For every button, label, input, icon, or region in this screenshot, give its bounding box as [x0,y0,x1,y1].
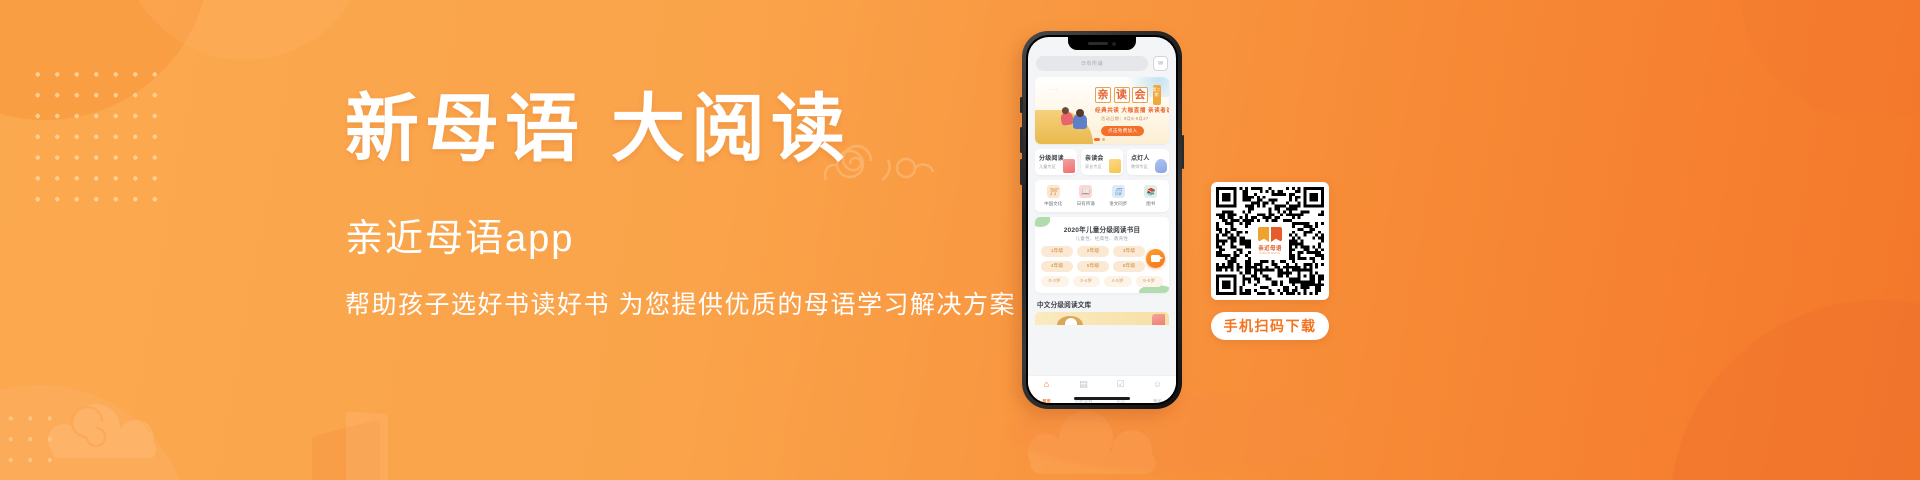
decorative-blob-top-left-secondary [120,0,370,60]
hero-date-text: 活动日期：9月6-9月27 [1101,116,1149,122]
headline-part-1: 新母语 [345,89,585,171]
library-section-title: 中文分级阅读文库 [1037,299,1167,309]
feature-card-parent-club[interactable]: 亲读会 家长专区 [1081,149,1123,175]
app-name-subheading: 亲近母语app [345,216,1005,262]
hero-title-char-2: 读 [1114,87,1130,103]
grade-chip[interactable]: 6年级 [1113,261,1145,272]
temple-glyph: ⛩ [1049,188,1058,196]
age-chip[interactable]: 4-5岁 [1104,276,1132,287]
quick-link-label: 日有所诵 [1070,201,1103,207]
tab-profile[interactable]: ☺ 我的 [1139,379,1176,403]
book-open-icon: 📖 [1079,185,1092,198]
books-glyph: 📚 [1146,188,1155,196]
carousel-dot[interactable] [1089,138,1092,141]
grade-chip[interactable]: 5年级 [1077,261,1109,272]
booklist-card: 2020年儿童分级阅读书目 儿童性、经典性、教育性 1年级 2年级 3年级 4年… [1035,217,1169,293]
quick-link-label: 语文同步 [1102,201,1135,207]
phone-notch [1068,37,1136,50]
play-icon [1151,255,1160,262]
age-chip[interactable]: 3-4岁 [1073,276,1101,287]
hero-subtitle: 经典共读 大咖直播 亲读者说 [1095,106,1169,114]
page-title: 新母语大阅读 [345,88,1005,172]
quick-link-daily-recitation[interactable]: 📖 日有所诵 [1070,185,1103,207]
qr-code: 亲近母语 QINJIN MUYU [1216,187,1324,295]
tab-label: 首页 [1042,399,1051,403]
hero-ribbon-badge: 第二期 [1153,85,1161,105]
booklist-title: 2020年儿童分级阅读书目 [1041,224,1163,234]
phone-power-button [1182,135,1185,169]
brand-name: 亲近母语 [1258,244,1282,252]
tab-home[interactable]: ⌂ 首页 [1028,379,1065,403]
phone-volume-down-button [1020,159,1023,185]
promo-banner: 新母语大阅读 亲近母语app 帮助孩子选好书读好书 为您提供优质的母语学习解决方… [0,0,1920,480]
library-book-thumbnail [1152,314,1165,325]
hero-title: 亲 读 会 第二期 [1095,85,1161,105]
hero-child-illustration-2 [1073,114,1087,129]
decorative-dot-grid [28,64,164,210]
banner-tagline: 帮助孩子选好书读好书 为您提供优质的母语学习解决方案 [345,288,1005,322]
message-icon[interactable]: ✉ [1153,56,1168,71]
grade-chip-row-2: 4年级 5年级 6年级 [1041,261,1163,272]
feature-card-row: 分级阅读 儿童专区 亲读会 家长专区 点灯人 教师专区 [1035,149,1169,175]
qr-code-card: 亲近母语 QINJIN MUYU [1211,182,1329,300]
quick-link-language-sync[interactable]: 🗒 语文同步 [1102,185,1135,207]
carousel-dot-active[interactable] [1094,138,1100,141]
book-graphic-icon [1063,159,1075,173]
person-graphic-icon [1155,159,1167,173]
hero-slide[interactable]: ··· 亲 读 会 第二期 经典共读 大咖直播 亲读者说 活动日期：9月6-9月… [1035,77,1169,144]
grade-chip[interactable]: 1年级 [1041,246,1073,257]
age-chip[interactable]: 5-6岁 [1136,276,1164,287]
envelope-glyph: ✉ [1158,60,1163,67]
age-chip-row: 0-3岁 3-4岁 4-5岁 5-6岁 [1041,276,1163,287]
book-open-glyph: 📖 [1081,188,1090,196]
headline-part-2: 大阅读 [611,89,851,171]
hero-title-char-1: 亲 [1095,87,1111,103]
person-icon: ☺ [1139,379,1176,390]
decorative-blob-bottom-right [1670,300,1920,480]
decorative-blob-top-right [1740,0,1920,120]
phone-bezel: 日有所诵 ✉ ··· [1026,35,1178,405]
quick-link-row: ⛩ 中国文化 📖 日有所诵 🗒 语文同步 📚 图书 [1035,180,1169,212]
quick-link-chinese-culture[interactable]: ⛩ 中国文化 [1037,185,1070,207]
checklist-icon: ☑ [1102,379,1139,390]
grade-chip[interactable]: 2年级 [1077,246,1109,257]
tab-label: 我的 [1153,399,1162,403]
download-button[interactable]: 手机扫码下载 [1211,312,1329,340]
search-placeholder-text: 日有所诵 [1081,60,1103,67]
feature-card-graded-reading[interactable]: 分级阅读 儿童专区 [1035,149,1077,175]
front-camera-icon [1112,42,1116,46]
quick-link-label: 图书 [1135,201,1168,207]
phone-mute-switch [1020,97,1023,113]
qr-download-block: 亲近母语 QINJIN MUYU 手机扫码下载 [1211,182,1329,340]
book-graphic-icon [1109,159,1121,173]
home-indicator [1074,397,1130,400]
grade-chip-row-1: 1年级 2年级 3年级 [1041,246,1163,257]
brand-name-latin: QINJIN MUYU [1259,252,1280,255]
decorative-cube-shape [312,420,380,480]
carousel-dots[interactable] [1089,138,1105,141]
hero-title-char-3: 会 [1132,87,1148,103]
age-chip[interactable]: 0-3岁 [1041,276,1069,287]
hero-child-illustration-1 [1060,111,1074,126]
home-icon: ⌂ [1028,379,1065,390]
phone-volume-up-button [1020,127,1023,153]
temple-icon: ⛩ [1047,185,1060,198]
open-book-icon [1258,227,1282,242]
quick-link-books[interactable]: 📚 图书 [1135,185,1168,207]
hero-birds-icon: ··· [1049,87,1059,92]
speaker-icon [1088,42,1108,45]
play-video-button[interactable] [1146,249,1165,268]
library-cover-strip[interactable] [1035,312,1169,325]
hero-join-button[interactable]: 点击免费加入 [1101,126,1144,136]
grade-chip[interactable]: 3年级 [1113,246,1145,257]
search-input[interactable]: 日有所诵 [1036,56,1148,71]
carousel-dot[interactable] [1102,138,1105,141]
phone-mockup: 日有所诵 ✉ ··· [1022,31,1182,409]
quick-link-label: 中国文化 [1037,201,1070,207]
brand-logo: 亲近母语 QINJIN MUYU [1253,224,1287,258]
phone-screen: 日有所诵 ✉ ··· [1028,37,1176,403]
notes-glyph: 🗒 [1114,188,1123,196]
cloud-swirl-icon-left [44,388,174,458]
books-icon: 📚 [1144,185,1157,198]
banner-copy: 新母语大阅读 亲近母语app 帮助孩子选好书读好书 为您提供优质的母语学习解决方… [345,88,1005,322]
grade-chip[interactable]: 4年级 [1041,261,1073,272]
search-row: 日有所诵 ✉ [1036,56,1168,71]
list-icon: ▤ [1065,379,1102,390]
notes-icon: 🗒 [1112,185,1125,198]
booklist-subtitle: 儿童性、经典性、教育性 [1041,236,1163,242]
feature-card-teacher-zone[interactable]: 点灯人 教师专区 [1127,149,1169,175]
hero-carousel[interactable]: ··· 亲 读 会 第二期 经典共读 大咖直播 亲读者说 活动日期：9月6-9月… [1035,77,1169,144]
